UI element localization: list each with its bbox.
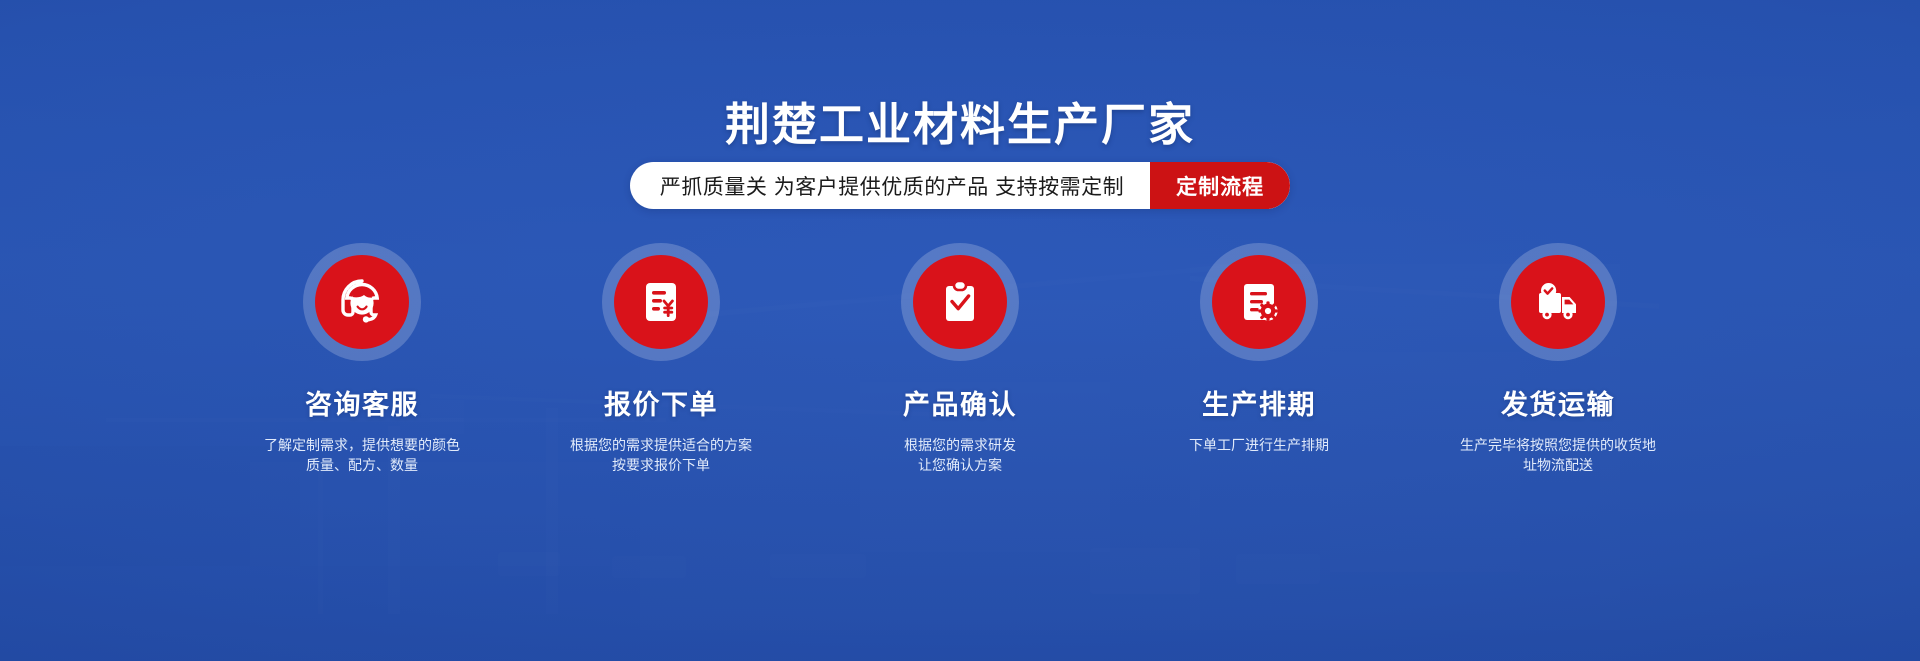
icon-ring [901,243,1019,361]
step-desc-line: 生产完毕将按照您提供的收货地 [1443,435,1673,455]
process-step[interactable]: 咨询客服 了解定制需求，提供想要的颜色 质量、配方、数量 [232,243,492,476]
icon-disc [1212,255,1306,349]
process-step[interactable]: 发货运输 生产完毕将按照您提供的收货地 址物流配送 [1428,243,1688,476]
tagline-pill-wrap: 严抓质量关 为客户提供优质的产品 支持按需定制 定制流程 [0,162,1920,209]
process-step[interactable]: 生产排期 下单工厂进行生产排期 [1129,243,1389,476]
tagline-pill: 严抓质量关 为客户提供优质的产品 支持按需定制 定制流程 [630,162,1290,209]
delivery-truck-check-icon [1531,275,1585,329]
step-label: 生产排期 [1202,383,1316,422]
tagline-text: 严抓质量关 为客户提供优质的产品 支持按需定制 [630,162,1150,209]
step-desc-line: 让您确认方案 [845,455,1075,475]
icon-ring [1499,243,1617,361]
icon-disc [315,255,409,349]
invoice-yuan-icon [636,277,686,327]
icon-ring [1200,243,1318,361]
icon-disc [913,255,1007,349]
step-label: 发货运输 [1501,383,1615,422]
step-desc-line: 址物流配送 [1443,455,1673,475]
icon-disc [614,255,708,349]
process-steps: 咨询客服 了解定制需求，提供想要的颜色 质量、配方、数量 [232,243,1688,476]
icon-ring [303,243,421,361]
step-label: 咨询客服 [305,383,419,422]
process-step[interactable]: 产品确认 根据您的需求研发 让您确认方案 [830,243,1090,476]
step-description: 生产完毕将按照您提供的收货地 址物流配送 [1443,435,1673,476]
promo-banner: 荆楚工业材料生产厂家 严抓质量关 为客户提供优质的产品 支持按需定制 定制流程 [0,0,1920,661]
page-title: 荆楚工业材料生产厂家 [0,88,1920,153]
banner-content: 荆楚工业材料生产厂家 严抓质量关 为客户提供优质的产品 支持按需定制 定制流程 [0,0,1920,661]
step-label: 报价下单 [604,383,718,422]
step-desc-line: 了解定制需求，提供想要的颜色 [247,435,477,455]
icon-disc [1511,255,1605,349]
headset-support-icon [335,275,389,329]
process-step[interactable]: 报价下单 根据您的需求提供适合的方案 按要求报价下单 [531,243,791,476]
step-desc-line: 根据您的需求提供适合的方案 [546,435,776,455]
clipboard-check-icon [935,277,985,327]
step-desc-line: 根据您的需求研发 [845,435,1075,455]
step-label: 产品确认 [903,383,1017,422]
custom-process-button[interactable]: 定制流程 [1150,162,1290,209]
step-desc-line: 下单工厂进行生产排期 [1144,435,1374,455]
step-desc-line: 按要求报价下单 [546,455,776,475]
step-description: 下单工厂进行生产排期 [1144,435,1374,455]
step-desc-line: 质量、配方、数量 [247,455,477,475]
step-description: 根据您的需求提供适合的方案 按要求报价下单 [546,435,776,476]
icon-ring [602,243,720,361]
step-description: 了解定制需求，提供想要的颜色 质量、配方、数量 [247,435,477,476]
document-gear-icon [1234,277,1284,327]
step-description: 根据您的需求研发 让您确认方案 [845,435,1075,476]
